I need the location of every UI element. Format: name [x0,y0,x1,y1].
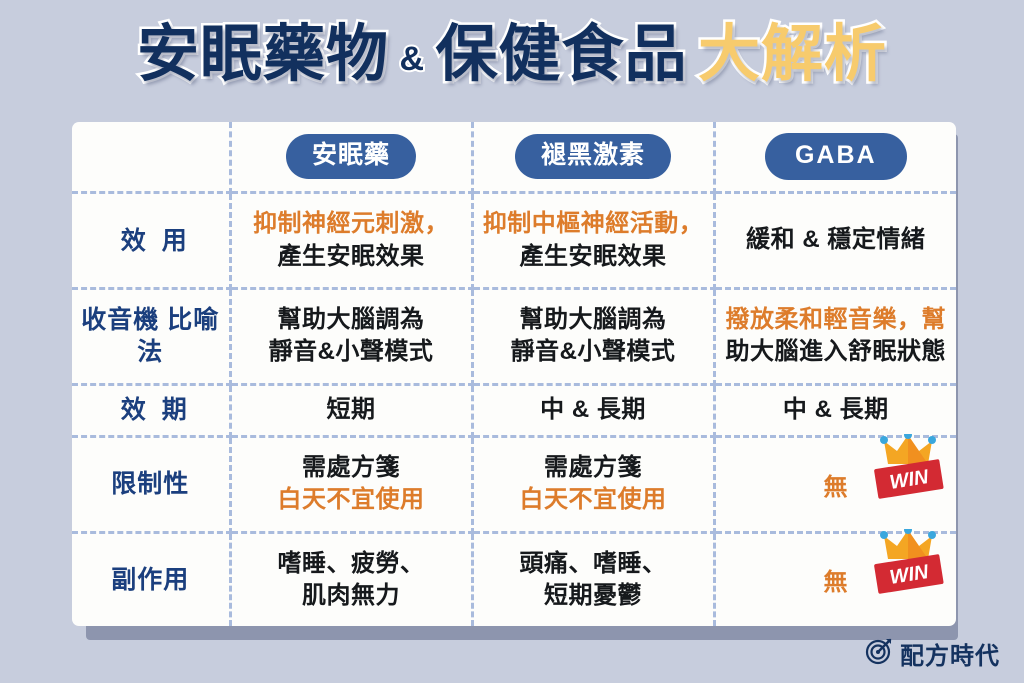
comparison-table: 安眠藥 褪黑激素 GABA 效用 抑制神經元刺激， 產生安眠效果 [72,122,956,626]
cell-radio-analogy-sleeping-pill: 幫助大腦調為 靜音&小聲模式 [230,288,472,384]
row-label-line1: 收音機 [81,306,159,334]
cell-line-1: 中 & 長期 [722,394,951,426]
cell-line-2: 產生安眠效果 [238,241,465,273]
none-with-win-badge: 無 [824,467,849,502]
row-label-line1: 效 [113,227,162,255]
row-label-line2: 期 [162,396,188,424]
cell-restriction-sleeping-pill: 需處方箋 白天不宜使用 [230,437,472,533]
header-pill-gaba[interactable]: GABA [765,133,907,181]
cell-line-2: 白天不宜使用 [238,484,465,516]
row-label-line1: 效 [113,396,162,424]
cell-efficacy-melatonin: 抑制中樞神經活動， 產生安眠效果 [472,193,714,289]
cell-line-1: 幫助大腦調為 [480,304,707,336]
table-header-row: 安眠藥 褪黑激素 GABA [72,122,956,193]
row-label-side-effects: 副作用 [72,532,230,626]
cell-line-1: 需處方箋 [238,452,465,484]
cell-restriction-gaba: 無 [714,437,956,533]
column-header-1: 安眠藥 [230,122,472,193]
row-label-line2: 用 [162,227,188,255]
row-label-line1: 副作用 [111,566,189,594]
brand-name: 配方時代 [900,636,1000,671]
row-label-efficacy: 效用 [72,193,230,289]
none-with-win-badge: 無 [824,562,849,597]
cell-line-1: 幫助大腦調為 [238,304,465,336]
cell-side-effects-melatonin: 頭痛、嗜睡、 短期憂鬱 [472,532,714,626]
cell-restriction-melatonin: 需處方箋 白天不宜使用 [472,437,714,533]
win-badge-icon: WIN [870,529,948,595]
title-accent: 大解析 [698,24,887,86]
cell-line-1: 中 & 長期 [480,394,707,426]
table-row: 效期 短期 中 & 長期 中 & 長期 [72,384,956,437]
cell-line-1: 抑制神經元刺激， [238,208,465,240]
cell-line-2: 白天不宜使用 [480,484,707,516]
cell-line-1: 無 [824,569,849,596]
cell-line-2: 產生安眠效果 [480,241,707,273]
cell-line-2: 肌肉無力 [238,580,465,612]
win-badge-icon: WIN [870,434,948,500]
page-title: 安眠藥物 & 保健食品 大解析 [0,24,1024,86]
row-label-line1: 限制性 [111,470,189,498]
cell-line-2: 助大腦進入舒眠狀態 [722,336,951,368]
cell-line-1: 緩和 & 穩定情緒 [722,224,951,256]
cell-line-1: 抑制中樞神經活動， [480,208,707,240]
cell-line-1: 短期 [238,394,465,426]
target-dartboard-icon [865,637,893,670]
header-pill-melatonin[interactable]: 褪黑激素 [515,134,671,180]
row-label-radio-analogy: 收音機 比喻法 [72,288,230,384]
cell-line-1: 撥放柔和輕音樂，幫 [722,304,951,336]
cell-side-effects-gaba: 無 [714,532,956,626]
title-part-1: 安眠藥物 [137,24,389,86]
cell-side-effects-sleeping-pill: 嗜睡、疲勞、 肌肉無力 [230,532,472,626]
column-header-2: 褪黑激素 [472,122,714,193]
table-corner-cell [72,122,230,193]
cell-efficacy-sleeping-pill: 抑制神經元刺激， 產生安眠效果 [230,193,472,289]
header-pill-sleeping-pill[interactable]: 安眠藥 [286,134,416,180]
title-part-2: 保健食品 [436,24,688,86]
comparison-table-card: 安眠藥 褪黑激素 GABA 效用 抑制神經元刺激， 產生安眠效果 [72,122,956,626]
cell-radio-analogy-melatonin: 幫助大腦調為 靜音&小聲模式 [472,288,714,384]
cell-line-1: 頭痛、嗜睡、 [480,548,707,580]
brand-footer: 配方時代 [865,636,1000,671]
cell-line-1: 需處方箋 [480,452,707,484]
cell-duration-gaba: 中 & 長期 [714,384,956,437]
title-ampersand: & [393,42,431,76]
cell-duration-sleeping-pill: 短期 [230,384,472,437]
row-label-duration: 效期 [72,384,230,437]
cell-line-1: 嗜睡、疲勞、 [238,548,465,580]
table-row: 副作用 嗜睡、疲勞、 肌肉無力 頭痛、嗜睡、 短期憂鬱 無 [72,532,956,626]
table-row: 限制性 需處方箋 白天不宜使用 需處方箋 白天不宜使用 無 [72,437,956,533]
cell-radio-analogy-gaba: 撥放柔和輕音樂，幫 助大腦進入舒眠狀態 [714,288,956,384]
table-row: 收音機 比喻法 幫助大腦調為 靜音&小聲模式 幫助大腦調為 靜音&小聲模式 [72,288,956,384]
cell-duration-melatonin: 中 & 長期 [472,384,714,437]
row-label-restriction: 限制性 [72,437,230,533]
cell-line-2: 靜音&小聲模式 [480,336,707,368]
column-header-3: GABA [714,122,956,193]
table-row: 效用 抑制神經元刺激， 產生安眠效果 抑制中樞神經活動， 產生安眠效果 [72,193,956,289]
cell-line-1: 無 [824,474,849,501]
cell-line-2: 短期憂鬱 [480,580,707,612]
cell-line-2: 靜音&小聲模式 [238,336,465,368]
cell-efficacy-gaba: 緩和 & 穩定情緒 [714,193,956,289]
